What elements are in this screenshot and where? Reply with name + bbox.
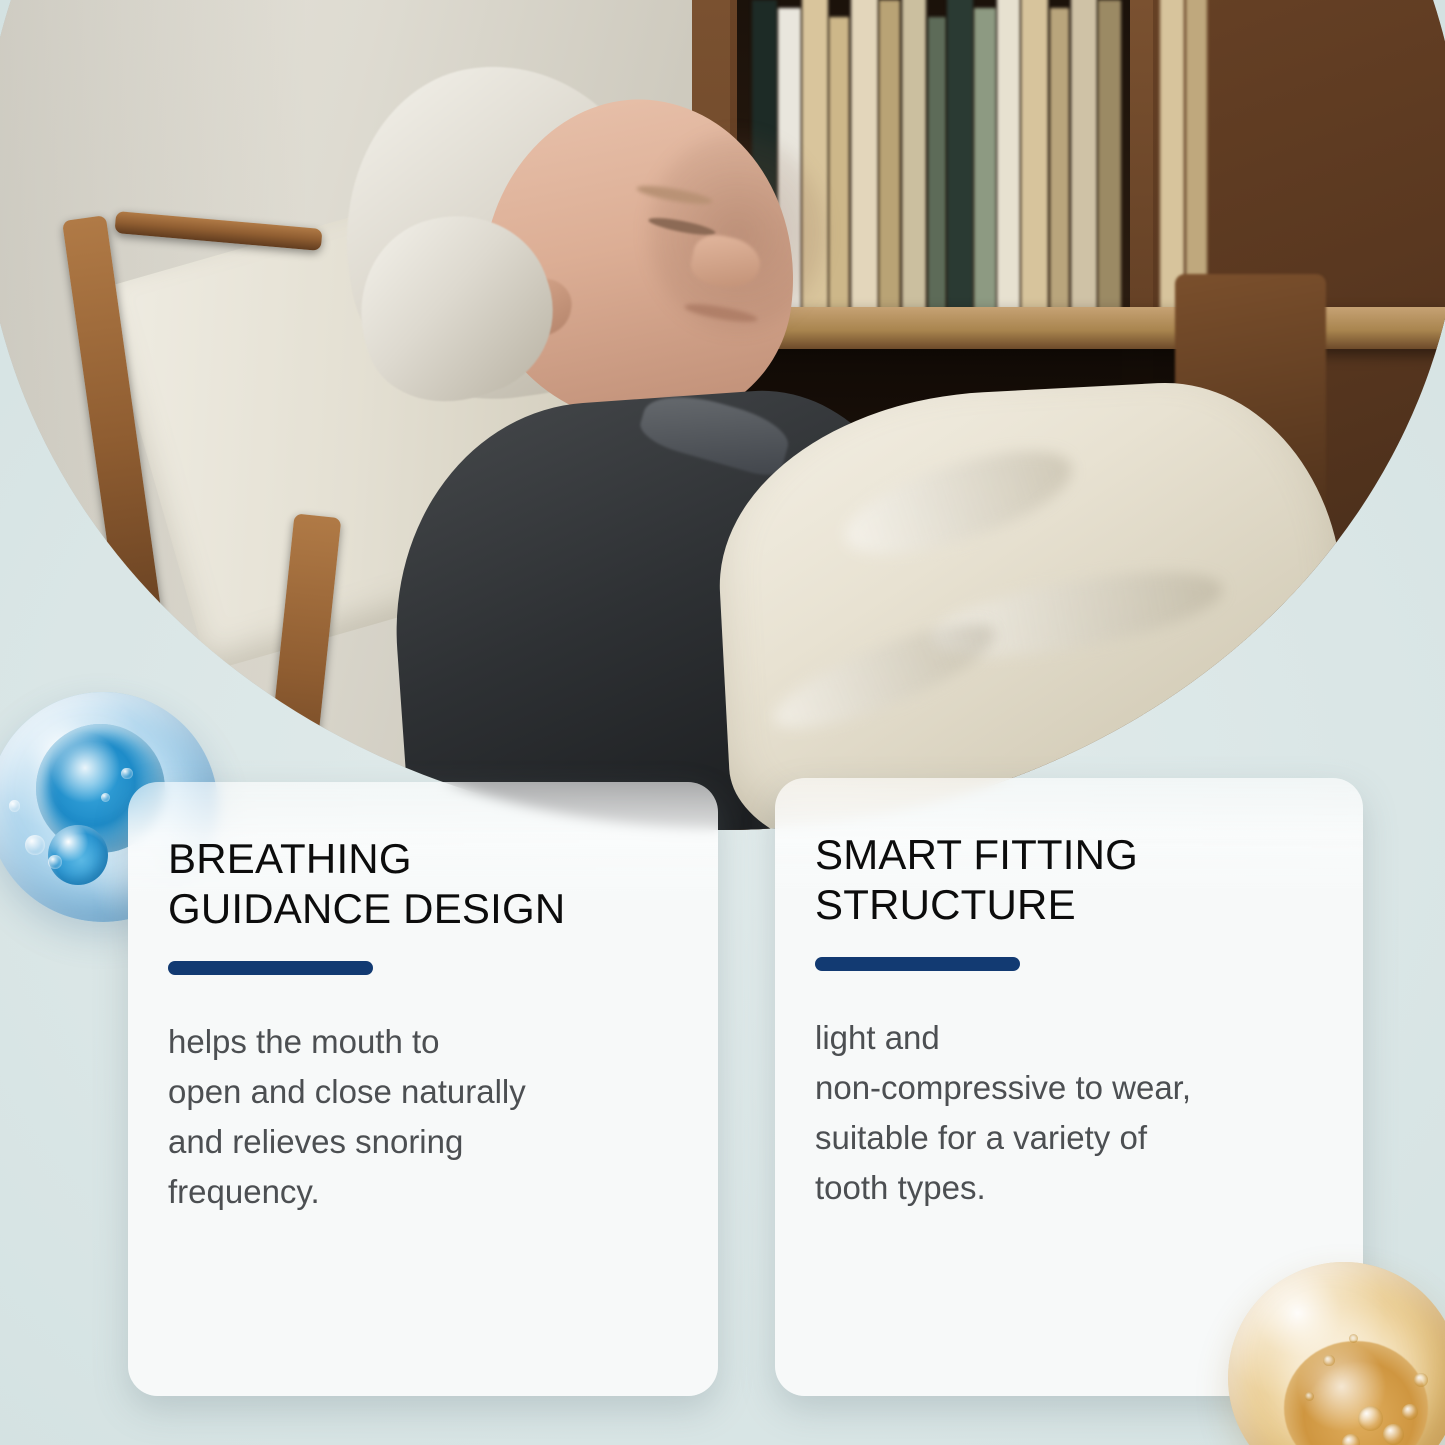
feature-card-description: helps the mouth to open and close natura…: [168, 1017, 672, 1218]
bubble: [9, 800, 21, 812]
feature-card-title: BREATHING GUIDANCE DESIGN: [168, 834, 672, 935]
book: [1098, 0, 1121, 315]
bubble: [1305, 1392, 1314, 1401]
book: [1071, 0, 1097, 315]
book: [851, 0, 878, 315]
title-accent-rule: [815, 957, 1020, 971]
bubble: [1349, 1334, 1358, 1343]
book: [974, 8, 995, 315]
feature-card-breathing-guidance-design[interactable]: BREATHING GUIDANCE DESIGN helps the mout…: [128, 782, 718, 1396]
hero-photo: [0, 0, 1445, 830]
book: [829, 17, 849, 316]
book: [879, 0, 900, 315]
bubble: [1402, 1404, 1418, 1420]
book: [928, 17, 946, 316]
feature-card-title: SMART FITTING STRUCTURE: [815, 830, 1317, 931]
book: [947, 0, 973, 315]
feature-card-description: light and non-compressive to wear, suita…: [815, 1013, 1317, 1214]
hero-photo-ellipse-mask: [0, 0, 1445, 830]
book: [1050, 8, 1070, 315]
product-feature-graphic: BREATHING GUIDANCE DESIGN helps the mout…: [0, 0, 1445, 1445]
bookcase-shelf: [722, 307, 1445, 349]
book: [1186, 0, 1207, 315]
bubble: [1414, 1373, 1428, 1387]
face-shadow: [648, 133, 826, 332]
bubble: [1323, 1355, 1335, 1367]
book: [997, 0, 1020, 315]
bubble: [25, 835, 46, 856]
bubble: [48, 855, 62, 869]
book: [902, 0, 926, 315]
book: [1021, 0, 1048, 315]
title-accent-rule: [168, 961, 373, 975]
book: [1160, 0, 1184, 315]
